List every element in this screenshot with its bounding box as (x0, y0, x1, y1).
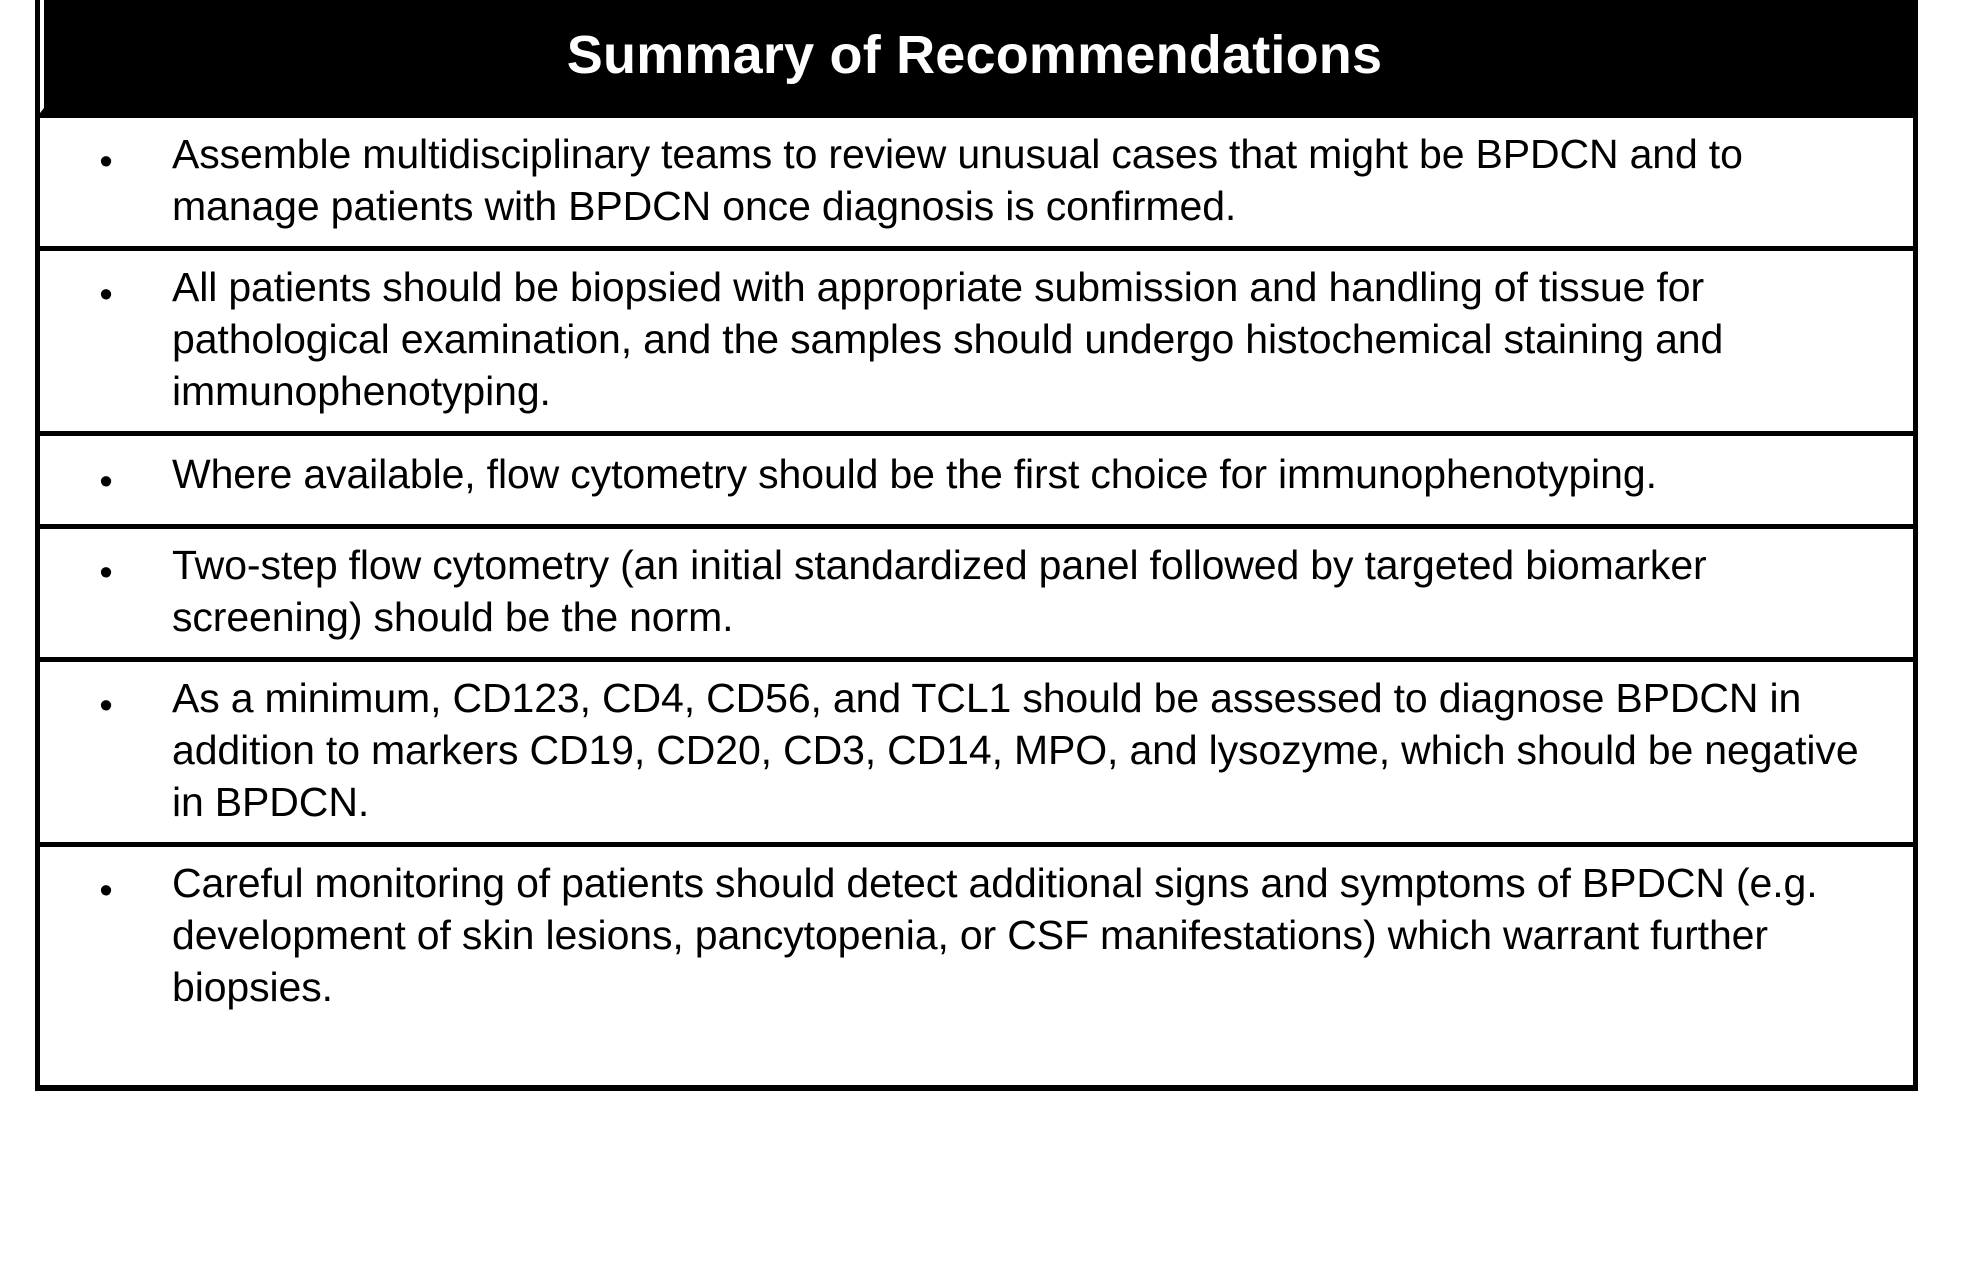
recommendation-text: Two-step flow cytometry (an initial stan… (172, 539, 1913, 643)
recommendation-text: Careful monitoring of patients should de… (172, 857, 1913, 1013)
bullet-icon: • (40, 448, 172, 512)
table-row: • Careful monitoring of patients should … (40, 842, 1913, 1085)
table-row: • As a minimum, CD123, CD4, CD56, and TC… (40, 657, 1913, 842)
recommendation-text: Assemble multidisciplinary teams to revi… (172, 128, 1913, 232)
recommendation-text: All patients should be biopsied with app… (172, 261, 1913, 417)
table-row: • Two-step flow cytometry (an initial st… (40, 524, 1913, 657)
recommendation-text: Where available, flow cytometry should b… (172, 448, 1913, 500)
table-header-row: Summary of Recommendations (40, 0, 1913, 113)
bullet-icon: • (40, 857, 172, 921)
table-row: • Assemble multidisciplinary teams to re… (40, 113, 1913, 246)
page-root: Summary of Recommendations • Assemble mu… (0, 0, 1987, 1287)
table-row: • Where available, flow cytometry should… (40, 431, 1913, 524)
bullet-icon: • (40, 261, 172, 325)
bullet-icon: • (40, 539, 172, 603)
table-row: • All patients should be biopsied with a… (40, 246, 1913, 431)
recommendation-text: As a minimum, CD123, CD4, CD56, and TCL1… (172, 672, 1913, 828)
page-title: Summary of Recommendations (567, 28, 1382, 82)
bullet-icon: • (40, 672, 172, 736)
recommendations-table: Summary of Recommendations • Assemble mu… (35, 0, 1918, 1091)
bullet-icon: • (40, 128, 172, 192)
